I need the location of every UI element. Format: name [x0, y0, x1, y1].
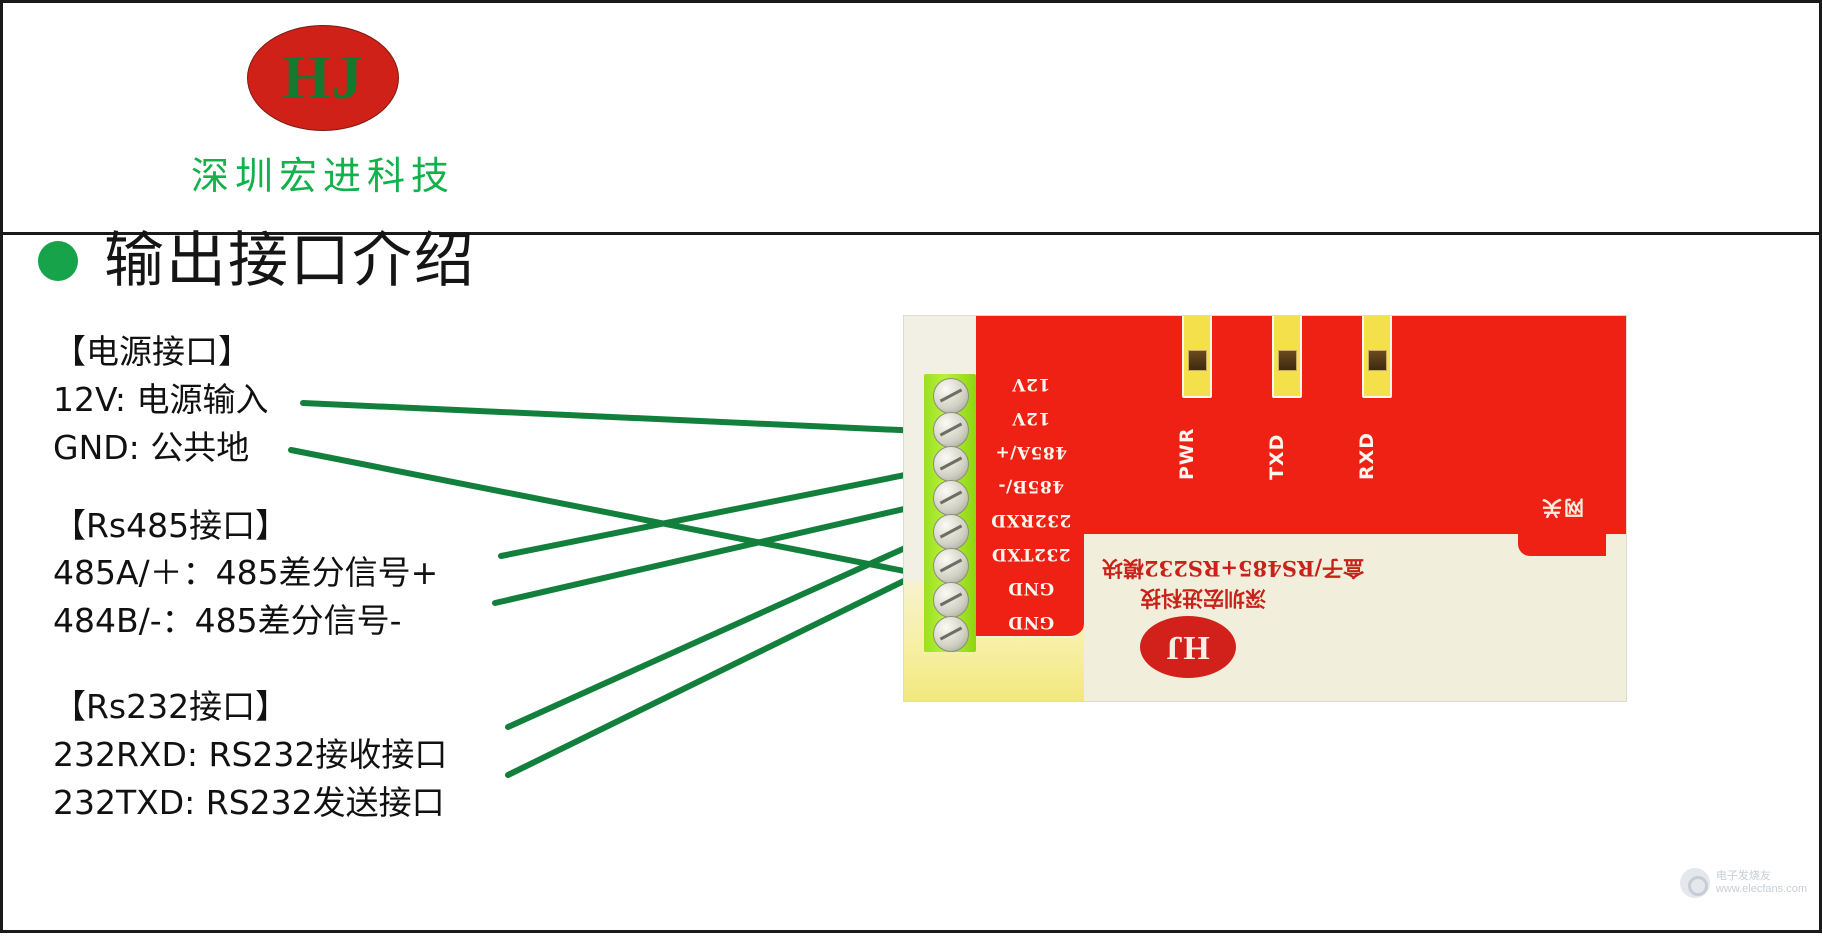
- spec-line-485b: 484B/-：485差分信号-: [53, 597, 693, 645]
- interface-spec-list: 【电源接口】 12V: 电源输入 GND: 公共地 【Rs485接口】 485A…: [53, 328, 693, 831]
- watermark: 电子发烧友 www.elecfans.com: [1680, 868, 1807, 898]
- watermark-text: 电子发烧友 www.elecfans.com: [1716, 870, 1807, 895]
- spec-group-heading: 【Rs232接口】: [53, 683, 693, 731]
- pin-label-gnd-2: GND: [986, 612, 1076, 632]
- company-logo: HJ 深圳宏进科技: [158, 25, 488, 200]
- watermark-line1: 电子发烧友: [1716, 870, 1807, 883]
- slide-page: HJ 深圳宏进科技 输出接口介绍 【电源接口】 12V: 电源输入 GND: 公…: [0, 0, 1822, 933]
- spec-group-heading: 【电源接口】: [53, 328, 693, 376]
- led-slot-txd: [1272, 315, 1302, 398]
- board-tab: 网关: [1518, 464, 1606, 556]
- watermark-logo-icon: [1680, 868, 1710, 898]
- led-slot-pwr: [1182, 315, 1212, 398]
- spec-line-485a: 485A/＋：485差分信号+: [53, 549, 693, 597]
- spec-line-232rxd: 232RXD: RS232接收接口: [53, 731, 693, 779]
- terminal-screw-icon: [933, 514, 969, 550]
- led-label-pwr: PWR: [1176, 408, 1198, 480]
- board-tab-label: 网关: [1518, 464, 1606, 556]
- led-chip-icon: [1368, 350, 1387, 371]
- pin-label-485b: 485B/-: [986, 476, 1076, 496]
- watermark-line2: www.elecfans.com: [1716, 883, 1807, 896]
- pin-label-232rxd: 232RXD: [986, 510, 1076, 530]
- board-logo-icon: HJ: [1140, 616, 1236, 678]
- terminal-screw-icon: [933, 616, 969, 652]
- spec-line-232txd: 232TXD: RS232发送接口: [53, 779, 693, 827]
- led-chip-icon: [1188, 350, 1207, 371]
- spec-group-heading: 【Rs485接口】: [53, 502, 693, 550]
- company-name-cn: 深圳宏进科技: [158, 145, 488, 200]
- board-logo-letters: HJ: [1140, 616, 1236, 678]
- terminal-screw-icon: [933, 548, 969, 584]
- terminal-screw-icon: [933, 378, 969, 414]
- green-dot-icon: [38, 241, 78, 281]
- spec-group-rs232: 【Rs232接口】 232RXD: RS232接收接口 232TXD: RS23…: [53, 683, 693, 827]
- pin-label-12v-2: 12V: [986, 408, 1076, 428]
- page-title: 输出接口介绍: [38, 231, 476, 291]
- spacer: [53, 476, 693, 502]
- terminal-screw-icon: [933, 582, 969, 618]
- spec-group-power: 【电源接口】 12V: 电源输入 GND: 公共地: [53, 328, 693, 472]
- pin-label-12v-1: 12V: [986, 374, 1076, 394]
- led-slot-rxd: [1362, 315, 1392, 398]
- pin-label-gnd-1: GND: [986, 578, 1076, 598]
- terminal-screw-icon: [933, 480, 969, 516]
- pin-label-232txd: 232TXD: [986, 544, 1076, 564]
- screw-terminal-block: [924, 374, 976, 652]
- page-title-text: 输出接口介绍: [104, 231, 476, 291]
- led-label-rxd: RXD: [1356, 408, 1378, 480]
- logo-letters: HJ: [248, 26, 398, 130]
- spacer: [53, 649, 693, 683]
- pcb-board-photo: 12V 12V 485A/+ 485B/- 232RXD 232TXD GND …: [903, 315, 1627, 702]
- led-label-txd: TXD: [1266, 408, 1288, 480]
- terminal-screw-icon: [933, 446, 969, 482]
- spec-group-rs485: 【Rs485接口】 485A/＋：485差分信号+ 484B/-：485差分信号…: [53, 502, 693, 646]
- terminal-screw-icon: [933, 412, 969, 448]
- silkscreen-company-text: 深圳宏进科技: [1140, 584, 1266, 614]
- led-chip-icon: [1278, 350, 1297, 371]
- spec-line-gnd: GND: 公共地: [53, 424, 693, 472]
- slide-header: HJ 深圳宏进科技: [3, 3, 1819, 235]
- spec-line-12v: 12V: 电源输入: [53, 376, 693, 424]
- logo-ellipse-icon: HJ: [247, 25, 399, 131]
- silkscreen-model-text: 盒子/RS485+RS232模块: [1102, 554, 1364, 584]
- pin-label-485a: 485A/+: [986, 442, 1076, 462]
